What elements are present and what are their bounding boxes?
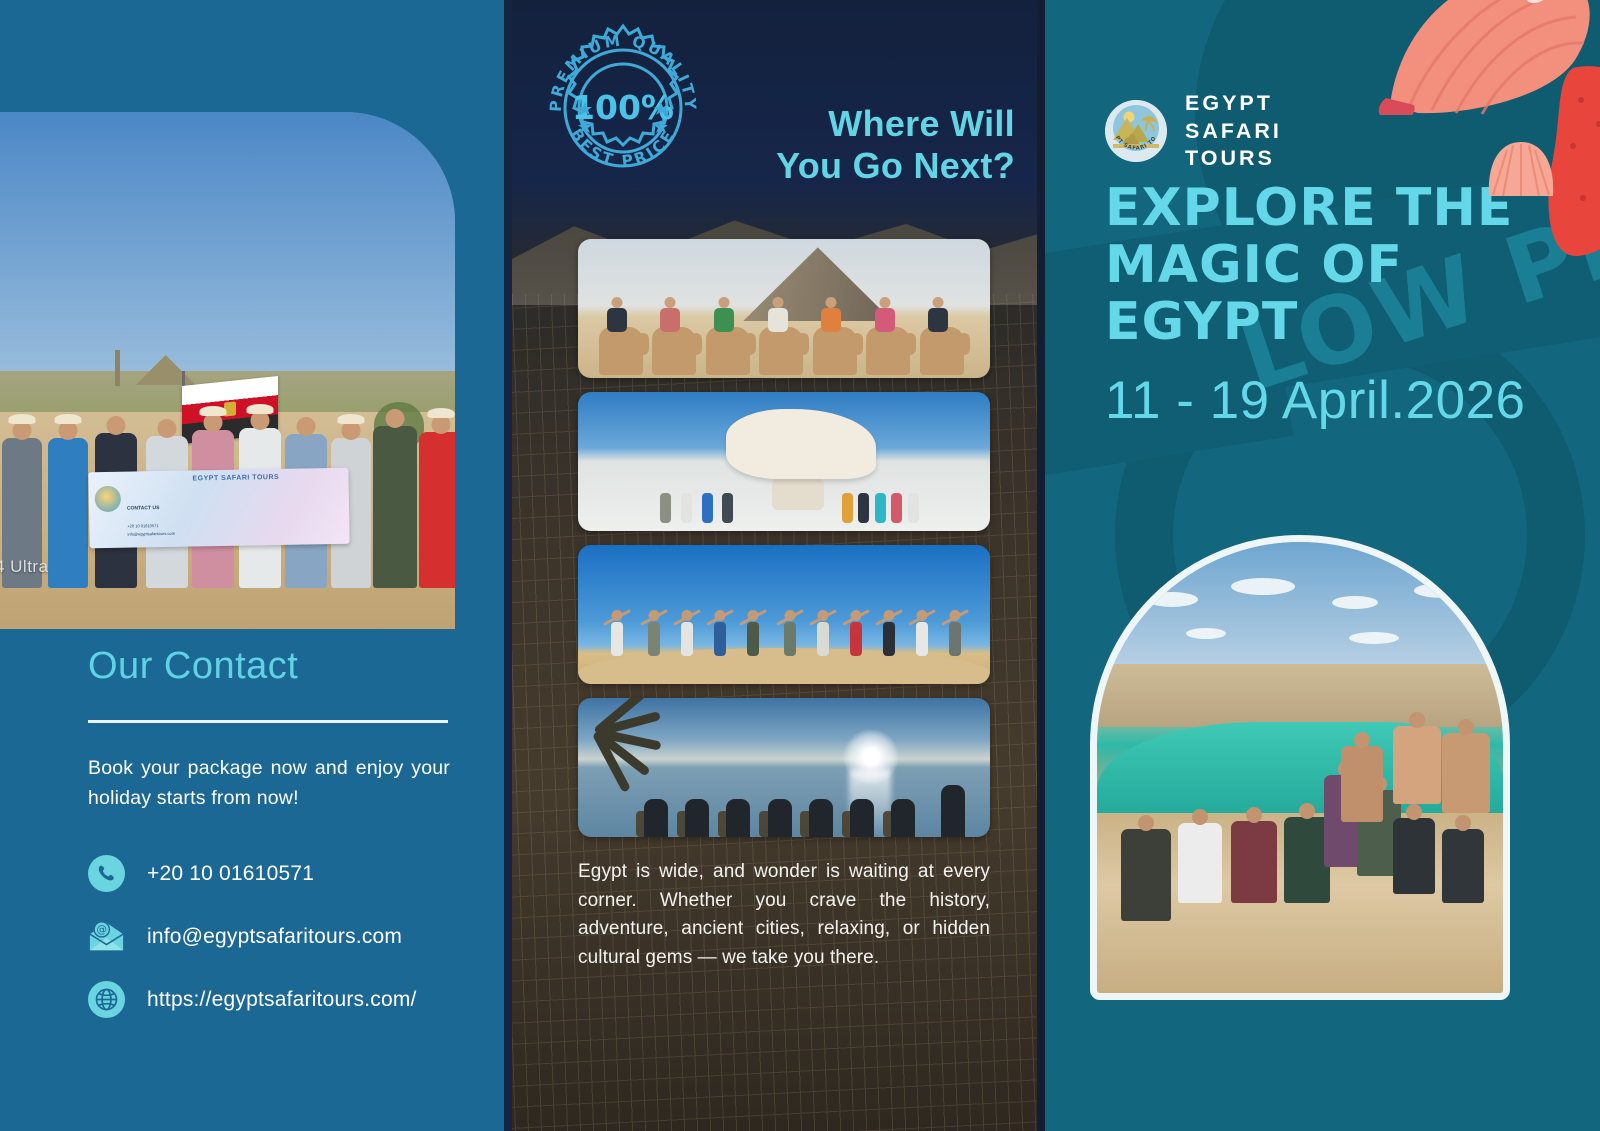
contact-row-phone[interactable]: +20 10 01610571	[88, 855, 450, 892]
contact-row-website[interactable]: https://egyptsafaritours.com/	[88, 981, 450, 1018]
contact-divider-rule	[88, 720, 448, 723]
camera-watermark: axy S24 Ultra	[0, 557, 49, 577]
middle-paragraph: Egypt is wide, and wonder is waiting at …	[578, 858, 990, 972]
middle-heading: Where Will You Go Next?	[725, 103, 1015, 187]
contact-tagline: Book your package now and enjoy your hol…	[88, 753, 450, 813]
contact-phone-value: +20 10 01610571	[147, 862, 314, 886]
email-icon: @	[88, 918, 125, 955]
panel-divider-right	[1037, 0, 1045, 1131]
brand-line-2: SAFARI	[1185, 118, 1282, 146]
contact-website-value: https://egyptsafaritours.com/	[147, 988, 417, 1012]
contact-section: Our Contact Book your package now and en…	[88, 645, 450, 1044]
contact-heading: Our Contact	[88, 645, 450, 688]
sand-dune-group-photo	[578, 545, 990, 684]
tour-date: 11 - 19 April.2026	[1105, 370, 1526, 431]
group-flag-photo: EGYPT SAFARI TOURS CONTACT US +20 10 016…	[0, 112, 455, 629]
banner-title: EGYPT SAFARI TOURS	[193, 473, 280, 485]
banner-email: info@egyptsafaritours.com	[128, 531, 176, 538]
banner-logo-icon	[95, 486, 121, 512]
main-title-line-2: MAGIC OF	[1105, 237, 1535, 294]
main-title: EXPLORE THE MAGIC OF EGYPT	[1105, 180, 1535, 352]
egypt-safari-tours-logo-icon: EGYPT SAFARI TOURS	[1105, 100, 1167, 162]
main-title-line-1: EXPLORE THE	[1105, 180, 1535, 237]
camel-ride-pyramid-photo	[578, 239, 990, 378]
palm-tree-silhouette	[586, 704, 682, 784]
arch-photo-hills	[1097, 664, 1503, 727]
phone-icon	[88, 855, 125, 892]
svg-text:BEST PRICE: BEST PRICE	[567, 126, 679, 171]
banner-phone: +20 10 01610571	[128, 523, 159, 530]
svg-text:@: @	[97, 925, 107, 937]
tour-group-people	[0, 350, 455, 588]
left-panel: EGYPT SAFARI TOURS CONTACT US +20 10 016…	[0, 0, 510, 1131]
brand-line-3: TOURS	[1185, 145, 1282, 173]
contact-list: +20 10 01610571 @ info@egyptsafaritours.…	[88, 855, 450, 1018]
tour-banner: EGYPT SAFARI TOURS CONTACT US +20 10 016…	[89, 468, 350, 549]
sunset-lake-photo	[578, 698, 990, 837]
seashell-small-icon	[1485, 140, 1557, 202]
brand-row: EGYPT SAFARI TOURS EGYPT SAFARI TOURS	[1105, 90, 1282, 173]
brand-name: EGYPT SAFARI TOURS	[1185, 90, 1282, 173]
globe-icon	[88, 981, 125, 1018]
premium-quality-badge: PREMIUM QUALITY BEST PRICE 100%	[535, 20, 711, 196]
siwa-salt-lake-group-photo	[1090, 535, 1510, 1000]
white-desert-rock-photo	[578, 392, 990, 531]
middle-heading-line1: Where Will	[725, 103, 1015, 145]
banner-contact-label: CONTACT US	[127, 505, 160, 513]
contact-row-email[interactable]: @ info@egyptsafaritours.com	[88, 918, 450, 955]
brochure-page: EGYPT SAFARI TOURS CONTACT US +20 10 016…	[0, 0, 1600, 1131]
middle-heading-line2: You Go Next?	[725, 145, 1015, 187]
arch-photo-sky	[1097, 542, 1503, 677]
main-title-line-3: EGYPT	[1105, 294, 1535, 351]
brand-line-1: EGYPT	[1185, 90, 1282, 118]
middle-panel: PREMIUM QUALITY BEST PRICE 100% Where Wi…	[510, 0, 1045, 1131]
contact-email-value: info@egyptsafaritours.com	[147, 925, 402, 949]
panel-divider-left	[504, 0, 512, 1131]
